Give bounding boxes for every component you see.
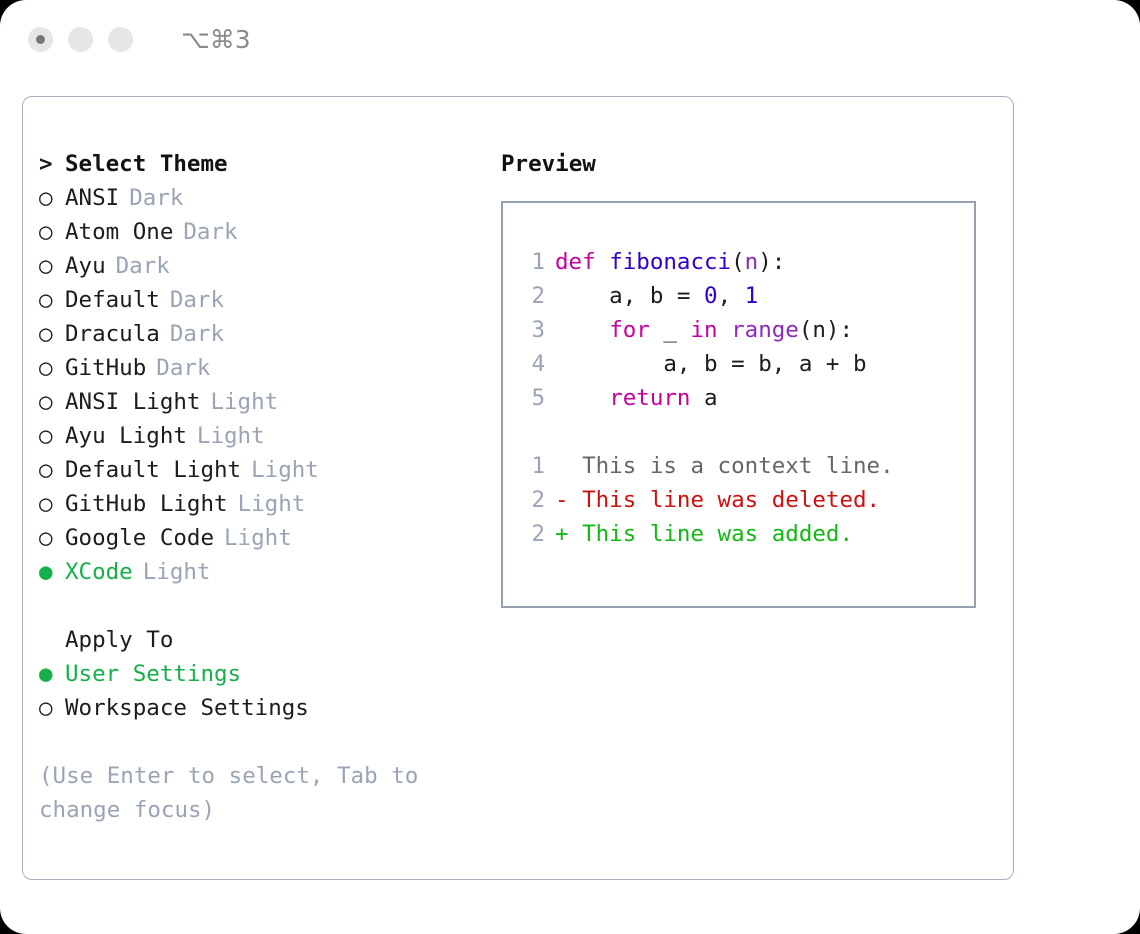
code-token-kw: def: [555, 249, 609, 275]
radio-unselected-icon: ○: [39, 249, 65, 283]
code-token-plain: a, b =: [555, 283, 704, 309]
theme-list-item[interactable]: ○GitHub LightLight: [39, 487, 509, 521]
apply-to-heading: Apply To: [39, 623, 509, 657]
theme-list-item[interactable]: ○DraculaDark: [39, 317, 509, 351]
code-line-content: a, b = b, a + b: [555, 347, 867, 381]
theme-name: XCode: [65, 555, 133, 589]
theme-name: Google Code: [65, 521, 214, 555]
apply-to-label: Apply To: [65, 623, 173, 657]
theme-list-item[interactable]: ○Atom OneDark: [39, 215, 509, 249]
theme-variant-badge: Light: [251, 453, 319, 487]
code-token-plain: a, b = b, a + b: [555, 351, 867, 377]
code-line-content: + This line was added.: [555, 517, 853, 551]
code-token-plain: (n):: [799, 317, 853, 343]
theme-name: Default Light: [65, 453, 241, 487]
apply-to-option[interactable]: ●User Settings: [39, 657, 509, 691]
line-number: 1: [517, 245, 545, 279]
code-line: 1def fibonacci(n):: [517, 245, 974, 279]
code-token-add: + This line was added.: [555, 521, 853, 547]
radio-unselected-icon: ○: [39, 453, 65, 487]
radio-unselected-icon: ○: [39, 317, 65, 351]
apply-to-option-label: User Settings: [65, 657, 241, 691]
code-token-plain: [555, 317, 609, 343]
theme-variant-badge: Dark: [156, 351, 210, 385]
apply-to-option[interactable]: ○Workspace Settings: [39, 691, 509, 725]
code-token-del: - This line was deleted.: [555, 487, 880, 513]
theme-list-item[interactable]: ○Ayu LightLight: [39, 419, 509, 453]
theme-name: Ayu Light: [65, 419, 187, 453]
window-dot-active-inner: [36, 35, 45, 44]
code-token-kw: in: [690, 317, 717, 343]
code-token-fn: fibonacci: [609, 249, 731, 275]
radio-unselected-icon: ○: [39, 521, 65, 555]
code-token-kw: for: [609, 317, 650, 343]
theme-list-item[interactable]: ○DefaultDark: [39, 283, 509, 317]
keyboard-shortcut-label: ⌥⌘3: [181, 25, 251, 54]
apply-to-section: Apply To ●User Settings○Workspace Settin…: [39, 623, 509, 725]
theme-list-item[interactable]: ●XCodeLight: [39, 555, 509, 589]
window-dot-active[interactable]: [28, 27, 53, 52]
theme-variant-badge: Light: [224, 521, 292, 555]
theme-name: Ayu: [65, 249, 106, 283]
preview-column: Preview 1def fibonacci(n):2 a, b = 0, 13…: [501, 147, 1001, 608]
theme-picker-panel: >Select Theme ○ANSIDark○Atom OneDark○Ayu…: [22, 96, 1014, 880]
code-token-plain: ,: [718, 283, 745, 309]
theme-variant-badge: Light: [210, 385, 278, 419]
line-number: 5: [517, 381, 545, 415]
code-token-plain: [555, 385, 609, 411]
theme-name: ANSI Light: [65, 385, 200, 419]
prompt-caret-icon: >: [39, 147, 65, 181]
code-spacer: [517, 415, 974, 449]
keyboard-hint-text: (Use Enter to select, Tab to change focu…: [39, 759, 454, 827]
theme-list-item[interactable]: ○ANSIDark: [39, 181, 509, 215]
select-theme-heading-label: Select Theme: [65, 147, 228, 181]
theme-variant-badge: Light: [197, 419, 265, 453]
code-line-content: def fibonacci(n):: [555, 245, 785, 279]
code-token-param: n: [745, 249, 759, 275]
theme-name: GitHub Light: [65, 487, 228, 521]
radio-unselected-icon: ○: [39, 351, 65, 385]
theme-list-item[interactable]: ○GitHubDark: [39, 351, 509, 385]
code-line-content: This is a context line.: [555, 449, 894, 483]
theme-name: ANSI: [65, 181, 119, 215]
window-dot-third[interactable]: [108, 27, 133, 52]
theme-variant-badge: Dark: [170, 317, 224, 351]
radio-unselected-icon: ○: [39, 419, 65, 453]
theme-variant-badge: Dark: [170, 283, 224, 317]
theme-variant-badge: Light: [143, 555, 211, 589]
code-token-num: 0: [704, 283, 718, 309]
theme-list: ○ANSIDark○Atom OneDark○AyuDark○DefaultDa…: [39, 181, 509, 589]
code-line: 4 a, b = b, a + b: [517, 347, 974, 381]
theme-variant-badge: Dark: [116, 249, 170, 283]
code-token-call: range: [731, 317, 799, 343]
theme-variant-badge: Dark: [129, 181, 183, 215]
title-bar: ⌥⌘3: [0, 0, 1140, 78]
code-token-plain: [718, 317, 732, 343]
radio-unselected-icon: ○: [39, 487, 65, 521]
code-line-content: - This line was deleted.: [555, 483, 880, 517]
theme-name: GitHub: [65, 351, 146, 385]
theme-list-column: >Select Theme ○ANSIDark○Atom OneDark○Ayu…: [39, 147, 509, 827]
theme-name: Dracula: [65, 317, 160, 351]
code-token-num: 1: [745, 283, 759, 309]
radio-unselected-icon: ○: [39, 283, 65, 317]
line-number: 2: [517, 279, 545, 313]
radio-unselected-icon: ○: [39, 181, 65, 215]
line-number: 2: [517, 517, 545, 551]
theme-list-item[interactable]: ○AyuDark: [39, 249, 509, 283]
select-theme-heading: >Select Theme: [39, 147, 509, 181]
app-window: ⌥⌘3 >Select Theme ○ANSIDark○Atom OneDark…: [0, 0, 1140, 934]
window-dot-second[interactable]: [68, 27, 93, 52]
code-line-content: return a: [555, 381, 718, 415]
theme-variant-badge: Light: [238, 487, 306, 521]
theme-list-item[interactable]: ○Default LightLight: [39, 453, 509, 487]
preview-title: Preview: [501, 147, 1001, 181]
diff-line: 2- This line was deleted.: [517, 483, 974, 517]
radio-unselected-icon: ○: [39, 385, 65, 419]
theme-list-item[interactable]: ○ANSI LightLight: [39, 385, 509, 419]
line-number: 1: [517, 449, 545, 483]
preview-box: 1def fibonacci(n):2 a, b = 0, 13 for _ i…: [501, 201, 976, 608]
apply-to-options: ●User Settings○Workspace Settings: [39, 657, 509, 725]
theme-name: Atom One: [65, 215, 173, 249]
code-token-plain: a: [690, 385, 717, 411]
apply-to-option-label: Workspace Settings: [65, 691, 309, 725]
diff-line: 1 This is a context line.: [517, 449, 974, 483]
code-token-ctx: This is a context line.: [555, 453, 894, 479]
radio-selected-icon: ●: [39, 657, 65, 691]
code-line: 5 return a: [517, 381, 974, 415]
theme-variant-badge: Dark: [183, 215, 237, 249]
diff-sample: 1 This is a context line.2- This line wa…: [517, 449, 974, 551]
apply-to-marker-spacer: [39, 623, 65, 657]
line-number: 3: [517, 313, 545, 347]
theme-list-item[interactable]: ○Google CodeLight: [39, 521, 509, 555]
line-number: 4: [517, 347, 545, 381]
radio-unselected-icon: ○: [39, 691, 65, 725]
radio-unselected-icon: ○: [39, 215, 65, 249]
code-line: 3 for _ in range(n):: [517, 313, 974, 347]
code-line-content: for _ in range(n):: [555, 313, 853, 347]
code-token-plain: ):: [758, 249, 785, 275]
code-token-plain: _: [650, 317, 691, 343]
line-number: 2: [517, 483, 545, 517]
code-line-content: a, b = 0, 1: [555, 279, 758, 313]
radio-selected-icon: ●: [39, 555, 65, 589]
code-sample: 1def fibonacci(n):2 a, b = 0, 13 for _ i…: [517, 245, 974, 415]
theme-name: Default: [65, 283, 160, 317]
diff-line: 2+ This line was added.: [517, 517, 974, 551]
code-token-kw: return: [609, 385, 690, 411]
code-line: 2 a, b = 0, 1: [517, 279, 974, 313]
code-token-plain: (: [731, 249, 745, 275]
